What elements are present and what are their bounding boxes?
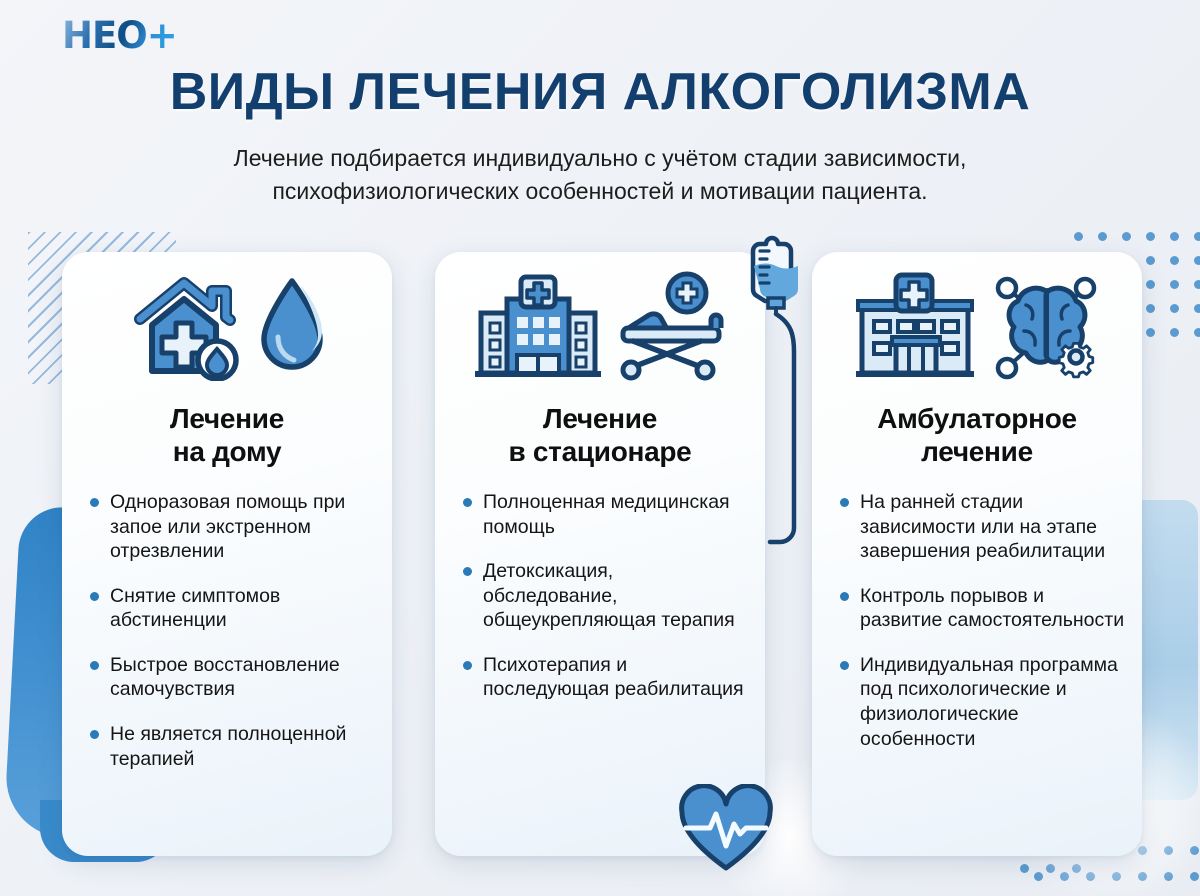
list-item: На ранней стадии зависимости или на этап… <box>840 490 1126 564</box>
list-item: Индивидуальная программа под психологиче… <box>840 653 1126 751</box>
card-title-line-2: в стационаре <box>435 435 765 468</box>
list-item: Контроль порывов и развитие самостоятель… <box>840 584 1126 633</box>
card-bullet-list: Одноразовая помощь при запое или экстрен… <box>62 490 392 771</box>
iv-drip-icon <box>736 228 816 568</box>
card-title: Амбулаторное лечение <box>812 402 1142 468</box>
card-title-line-2: на дому <box>62 435 392 468</box>
card-title-line-1: Амбулаторное <box>812 402 1142 435</box>
list-item: Не является полноценной терапией <box>90 722 376 771</box>
house-medical-icon <box>126 273 244 381</box>
card-bullet-list: На ранней стадии зависимости или на этап… <box>812 490 1142 751</box>
heart-pulse-icon <box>676 784 776 874</box>
page-subtitle: Лечение подбирается индивидуально с учёт… <box>100 142 1100 209</box>
card-title: Лечение в стационаре <box>435 402 765 468</box>
brain-gear-icon <box>990 271 1102 383</box>
card-outpatient-treatment[interactable]: Амбулаторное лечение На ранней стадии за… <box>812 252 1142 856</box>
list-item: Психотерапия и последующая реабилитация <box>463 653 749 702</box>
hospital-building-icon <box>473 271 603 383</box>
page-title: ВИДЫ ЛЕЧЕНИЯ АЛКОГОЛИЗМА <box>0 62 1200 122</box>
card-icons <box>812 252 1142 402</box>
subtitle-line-2: психофизиологических особенностей и моти… <box>100 175 1100 208</box>
card-inpatient-treatment[interactable]: Лечение в стационаре Полноценная медицин… <box>435 252 765 856</box>
card-icons <box>435 252 765 402</box>
clinic-building-icon <box>852 271 978 383</box>
subtitle-line-1: Лечение подбирается индивидуально с учёт… <box>100 142 1100 175</box>
list-item: Детоксикация, обследование, общеукрепляю… <box>463 559 749 633</box>
list-item: Снятие симптомов абстиненции <box>90 584 376 633</box>
list-item: Полноценная медицинская помощь <box>463 490 749 539</box>
brand-logo: НЕО+ <box>62 14 177 57</box>
card-title-line-1: Лечение <box>62 402 392 435</box>
card-title-line-1: Лечение <box>435 402 765 435</box>
list-item: Быстрое восстановление самочувствия <box>90 653 376 702</box>
hospital-bed-icon <box>615 271 727 383</box>
card-title: Лечение на дому <box>62 402 392 468</box>
list-item: Одноразовая помощь при запое или экстрен… <box>90 490 376 564</box>
card-home-treatment[interactable]: Лечение на дому Одноразовая помощь при з… <box>62 252 392 856</box>
card-title-line-2: лечение <box>812 435 1142 468</box>
water-drop-icon <box>256 275 328 379</box>
card-bullet-list: Полноценная медицинская помощь Детоксика… <box>435 490 765 702</box>
card-icons <box>62 252 392 402</box>
